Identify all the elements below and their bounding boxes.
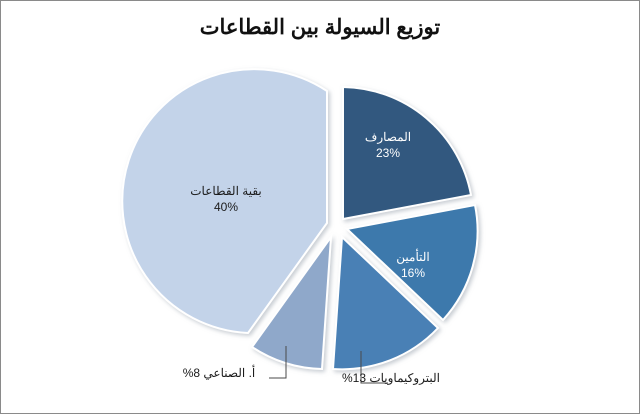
slice-label-almasarif-name: المصارف: [333, 129, 443, 145]
chart-frame: توزيع السيولة بين القطاعات: [0, 0, 640, 414]
slice-label-baqiyat-alqitaat: بقية القطاعات 40%: [161, 183, 291, 215]
slice-label-baqiyat-alqitaat-name: بقية القطاعات: [161, 183, 291, 199]
callout-label-alsinai-value: 8%: [183, 366, 200, 380]
pie-chart-svg: [1, 1, 640, 415]
callout-label-alsinai: أ. الصناعي 8%: [169, 365, 269, 381]
slice-label-almasarif-value: 23%: [333, 145, 443, 161]
callout-label-alsinai-name: أ. الصناعي: [203, 366, 255, 380]
callout-label-albetrokimawiyat-value: 13%: [342, 371, 366, 385]
callout-label-albetrokimawiyat-name: البتروكيماويات: [369, 371, 440, 385]
slice-label-altameen-value: 16%: [358, 265, 468, 281]
slice-label-altameen-name: التأمين: [358, 249, 468, 265]
slice-label-altameen: التأمين 16%: [358, 249, 468, 281]
slice-label-baqiyat-alqitaat-value: 40%: [161, 199, 291, 215]
slice-label-almasarif: المصارف 23%: [333, 129, 443, 161]
pie-chart-plot-area: المصارف 23% التأمين 16% بقية القطاعات 40…: [1, 1, 640, 415]
callout-label-albetrokimawiyat: البتروكيماويات 13%: [331, 370, 451, 386]
